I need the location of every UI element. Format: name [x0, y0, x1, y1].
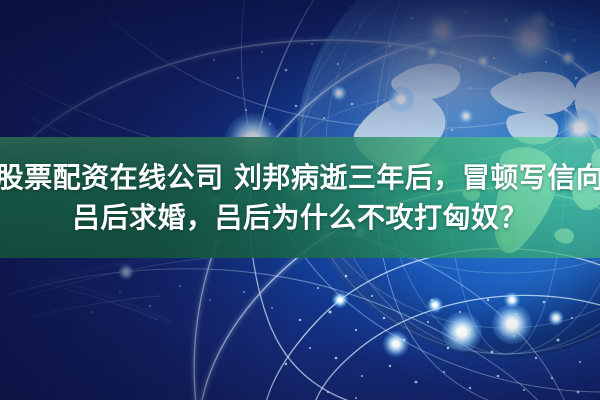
- headline-line-2: 吕后求婚，吕后为什么不攻打匈奴？: [72, 201, 528, 234]
- banner-image: 股票配资在线公司 刘邦病逝三年后，冒顿写信向 吕后求婚，吕后为什么不攻打匈奴？: [0, 0, 600, 400]
- headline-block: 股票配资在线公司 刘邦病逝三年后，冒顿写信向 吕后求婚，吕后为什么不攻打匈奴？: [0, 137, 600, 258]
- headline-line-1: 股票配资在线公司 刘邦病逝三年后，冒顿写信向: [0, 161, 600, 194]
